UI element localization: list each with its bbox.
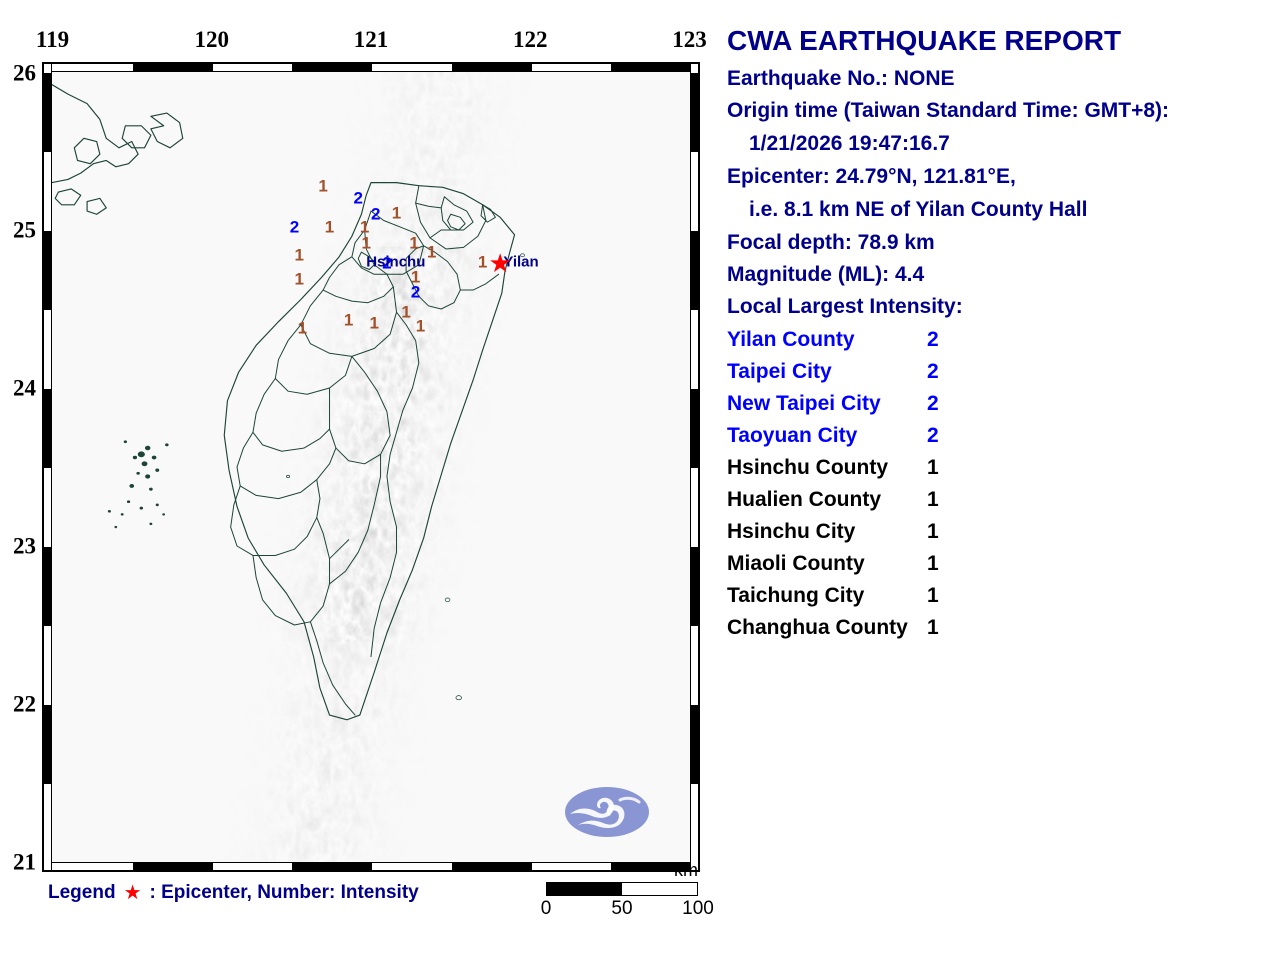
report-info-panel: CWA EARTHQUAKE REPORT Earthquake No.: NO… [727, 26, 1272, 648]
intensity-region-value: 2 [927, 392, 967, 415]
intensity-region-name: New Taipei City [727, 392, 927, 415]
intensity-marker: 1 [325, 218, 334, 235]
intensity-region-name: Hsinchu City [727, 520, 927, 543]
intensity-table-row: Yilan County2 [727, 328, 1272, 351]
intensity-region-value: 1 [927, 520, 967, 543]
intensity-marker: 1 [409, 234, 418, 251]
scale-tick-labels: 050100 [546, 899, 698, 921]
lon-tick-119: 119 [36, 28, 69, 51]
focal-depth: Focal depth: 78.9 km [727, 231, 1272, 254]
intensity-marker: 1 [344, 312, 353, 329]
intensity-section-heading: Local Largest Intensity: [727, 295, 1272, 318]
intensity-table-row: New Taipei City2 [727, 392, 1272, 415]
intensity-marker: 1 [361, 234, 370, 251]
lon-tick-122: 122 [513, 28, 548, 51]
intensity-region-value: 2 [927, 424, 967, 447]
lat-tick-21: 21 [2, 850, 36, 873]
intensity-region-name: Taipei City [727, 360, 927, 383]
intensity-marker: 2 [371, 206, 380, 223]
lat-tick-23: 23 [2, 534, 36, 557]
intensity-marker: 1 [318, 177, 327, 194]
epicenter-description: i.e. 8.1 km NE of Yilan County Hall [727, 198, 1272, 221]
map-tick-band-left [43, 63, 52, 871]
legend-word: Legend [48, 882, 116, 904]
lon-tick-121: 121 [354, 28, 389, 51]
page-title: CWA EARTHQUAKE REPORT [727, 26, 1272, 57]
intensity-marker: 1 [416, 318, 425, 335]
map-frame: 222221111111111111111HsinchuYilan★ [42, 62, 700, 872]
origin-time-label: Origin time (Taiwan Standard Time: GMT+8… [727, 99, 1272, 122]
intensity-table-row: Changhua County1 [727, 616, 1272, 639]
intensity-table-row: Hsinchu City1 [727, 520, 1272, 543]
intensity-region-name: Yilan County [727, 328, 927, 351]
intensity-table: Yilan County2Taipei City2New Taipei City… [727, 328, 1272, 640]
map-tick-band-bottom [43, 862, 699, 871]
intensity-region-name: Changhua County [727, 616, 927, 639]
intensity-region-value: 1 [927, 552, 967, 575]
map-panel: 119120121122123 262524232221 22222111111… [0, 0, 720, 960]
intensity-region-value: 1 [927, 456, 967, 479]
intensity-region-name: Hsinchu County [727, 456, 927, 479]
intensity-region-value: 2 [927, 360, 967, 383]
epicenter-star-marker: ★ [489, 250, 512, 276]
earthquake-number: Earthquake No.: NONE [727, 67, 1272, 90]
intensity-region-name: Taoyuan City [727, 424, 927, 447]
scale-tick-100: 100 [682, 899, 714, 918]
scale-tick-50: 50 [611, 899, 632, 918]
intensity-marker: 1 [427, 244, 436, 261]
lon-tick-123: 123 [672, 28, 707, 51]
scale-bar-graphic [546, 882, 698, 896]
lon-tick-120: 120 [195, 28, 230, 51]
lat-tick-26: 26 [2, 61, 36, 84]
intensity-marker: 1 [478, 253, 487, 270]
intensity-marker: 2 [354, 190, 363, 207]
magnitude: Magnitude (ML): 4.4 [727, 263, 1272, 286]
intensity-table-row: Hualien County1 [727, 488, 1272, 511]
intensity-table-row: Taipei City2 [727, 360, 1272, 383]
city-label-hsinchu: Hsinchu [366, 254, 425, 269]
intensity-table-row: Taoyuan City2 [727, 424, 1272, 447]
intensity-marker: 1 [401, 304, 410, 321]
intensity-marker: 1 [294, 270, 303, 287]
map-tick-band-right [690, 63, 699, 871]
intensity-marker: 1 [360, 218, 369, 235]
legend: Legend ★ : Epicenter, Number: Intensity [48, 882, 419, 904]
intensity-region-value: 2 [927, 328, 967, 351]
scale-unit-label: km [674, 861, 698, 879]
intensity-table-row: Miaoli County1 [727, 552, 1272, 575]
intensity-marker: 1 [392, 204, 401, 221]
epicenter-coordinates: Epicenter: 24.79°N, 121.81°E, [727, 165, 1272, 188]
legend-description: : Epicenter, Number: Intensity [150, 882, 419, 904]
intensity-marker: 1 [298, 319, 307, 336]
intensity-marker: 1 [294, 247, 303, 264]
intensity-region-name: Hualien County [727, 488, 927, 511]
cwa-logo [564, 784, 650, 840]
intensity-marker: 1 [411, 269, 420, 286]
scale-segment-empty [622, 883, 697, 895]
lat-tick-25: 25 [2, 219, 36, 242]
epicenter-star-icon: ★ [122, 883, 144, 903]
scale-tick-0: 0 [541, 899, 552, 918]
intensity-region-value: 1 [927, 616, 967, 639]
intensity-region-name: Miaoli County [727, 552, 927, 575]
intensity-table-row: Taichung City1 [727, 584, 1272, 607]
intensity-marker: 1 [369, 315, 378, 332]
lat-tick-24: 24 [2, 377, 36, 400]
intensity-marker: 2 [290, 218, 299, 235]
intensity-region-value: 1 [927, 584, 967, 607]
origin-time-value: 1/21/2026 19:47:16.7 [727, 132, 1272, 155]
intensity-marker: 2 [411, 283, 420, 300]
map-tick-band-top [43, 63, 699, 72]
intensity-table-row: Hsinchu County1 [727, 456, 1272, 479]
map-canvas-area[interactable]: 222221111111111111111HsinchuYilan★ [52, 72, 690, 862]
map-overlay: 222221111111111111111HsinchuYilan★ [52, 72, 690, 862]
intensity-region-name: Taichung City [727, 584, 927, 607]
scale-segment-filled [547, 883, 622, 895]
lat-tick-22: 22 [2, 692, 36, 715]
intensity-region-value: 1 [927, 488, 967, 511]
